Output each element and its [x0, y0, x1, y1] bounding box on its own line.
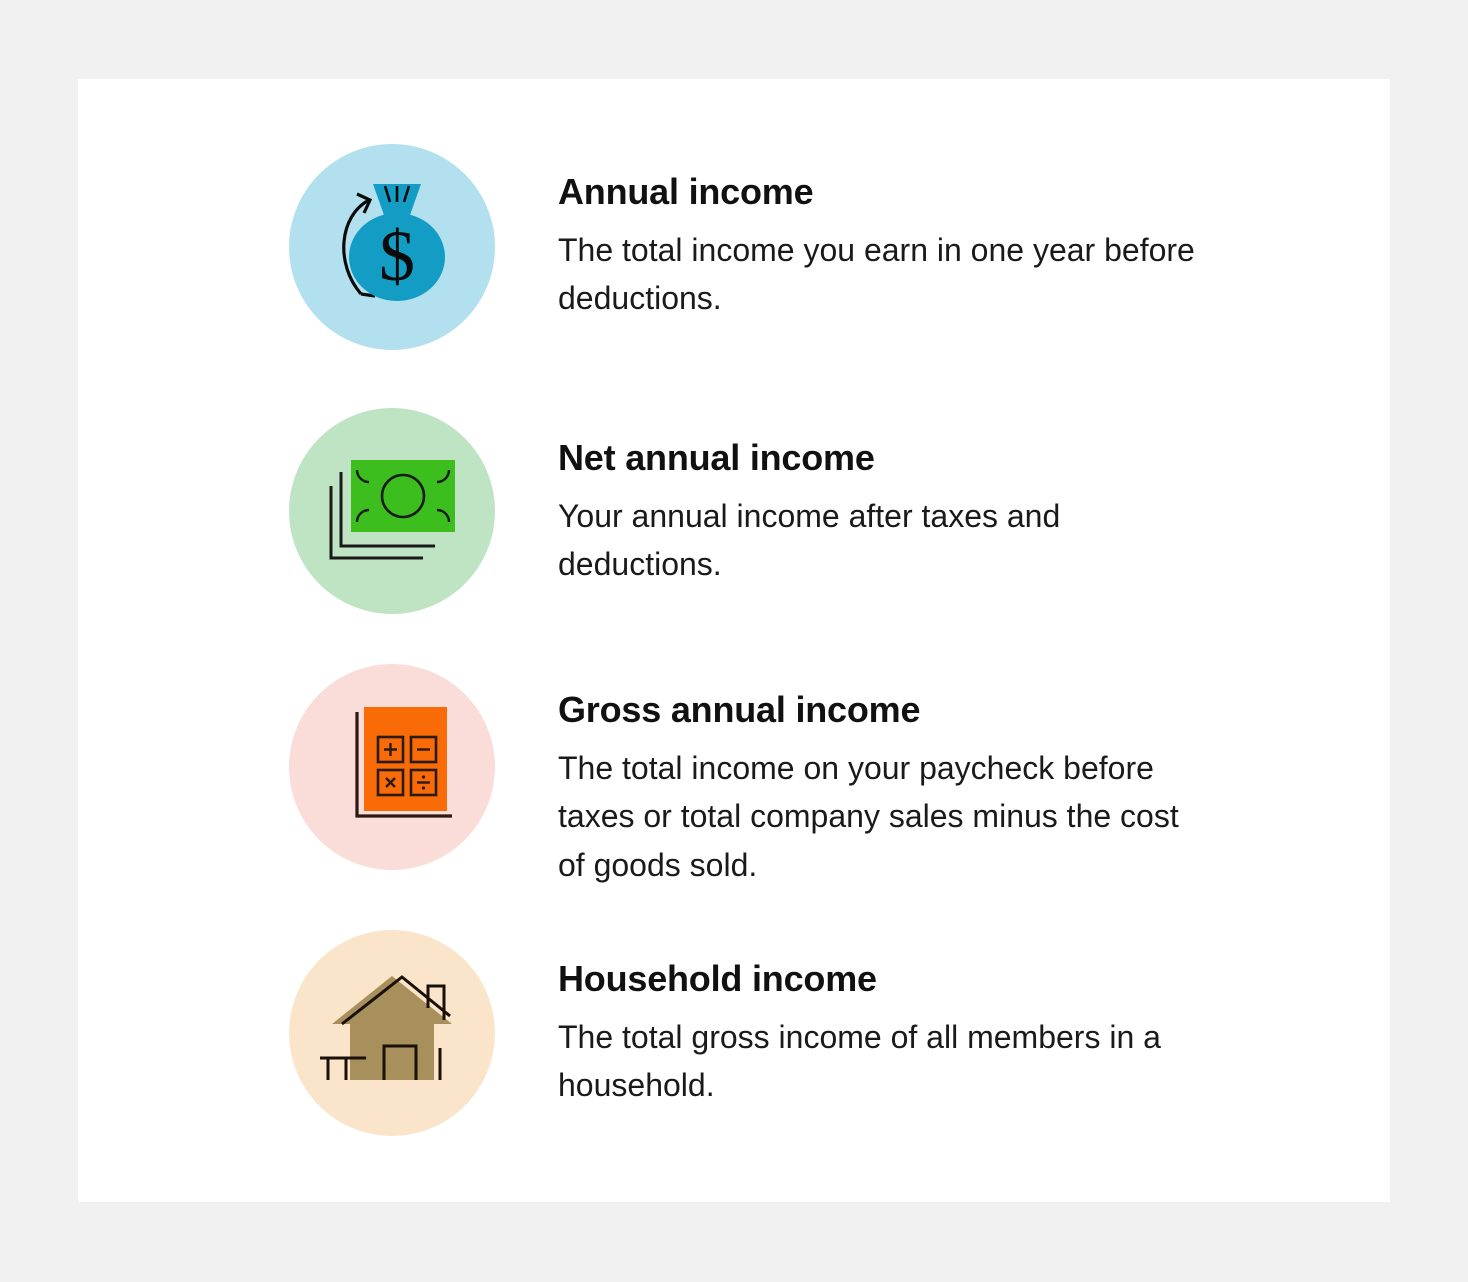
entry-text-block: Household income The total gross income … — [558, 959, 1198, 1110]
entry-description: Your annual income after taxes and deduc… — [558, 492, 1198, 589]
entry-description: The total income on your paycheck before… — [558, 744, 1198, 890]
entry-title: Annual income — [558, 172, 1198, 212]
calculator-icon-badge — [289, 664, 495, 870]
entry-text-block: Annual income The total income you earn … — [558, 172, 1198, 323]
infographic-card: $ Annual income The total income you ear… — [78, 79, 1390, 1202]
income-definition-list: $ Annual income The total income you ear… — [78, 79, 1390, 1202]
list-item: Net annual income Your annual income aft… — [78, 408, 1390, 614]
calculator-icon — [317, 692, 467, 842]
entry-title: Net annual income — [558, 438, 1198, 478]
list-item: Household income The total gross income … — [78, 930, 1390, 1136]
house-icon — [312, 958, 472, 1108]
svg-text:$: $ — [379, 216, 415, 296]
money-bag-icon: $ — [317, 172, 467, 322]
entry-description: The total income you earn in one year be… — [558, 226, 1198, 323]
entry-description: The total gross income of all members in… — [558, 1013, 1198, 1110]
cash-bill-icon-badge — [289, 408, 495, 614]
entry-text-block: Gross annual income The total income on … — [558, 690, 1198, 889]
house-icon-badge — [289, 930, 495, 1136]
list-item: $ Annual income The total income you ear… — [78, 144, 1390, 350]
cash-bill-icon — [317, 436, 467, 586]
entry-title: Household income — [558, 959, 1198, 999]
list-item: Gross annual income The total income on … — [78, 664, 1390, 870]
entry-text-block: Net annual income Your annual income aft… — [558, 438, 1198, 589]
money-bag-icon-badge: $ — [289, 144, 495, 350]
entry-title: Gross annual income — [558, 690, 1198, 730]
